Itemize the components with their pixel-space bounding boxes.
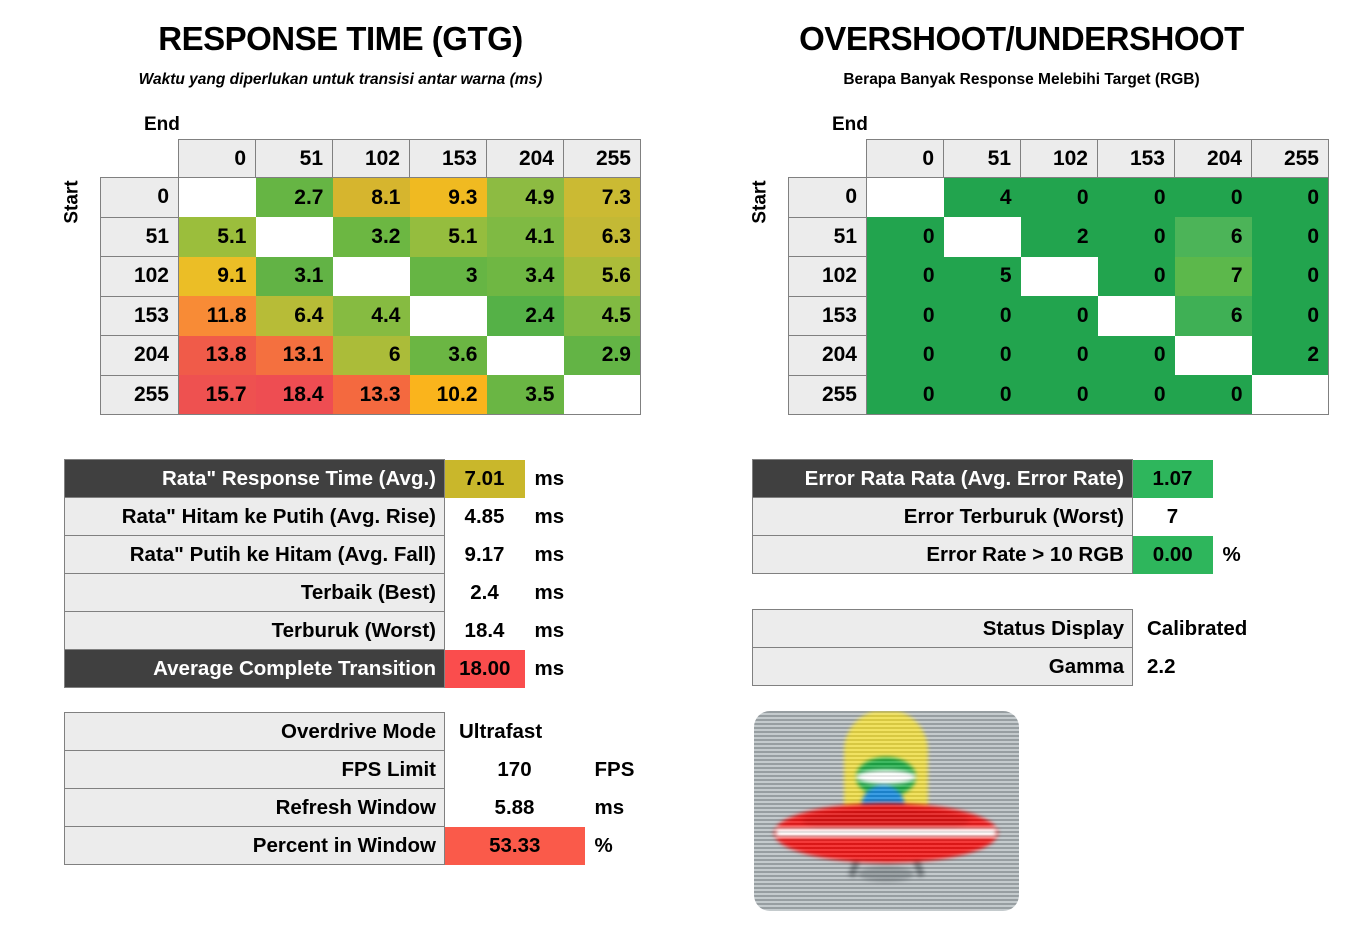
right-matrix-start-label: Start xyxy=(750,180,772,223)
response-time-stat-label: Rata" Hitam ke Putih (Avg. Rise) xyxy=(65,498,445,536)
matrix-cell: 13.8 xyxy=(179,336,256,376)
error-stat-value: 0.00 xyxy=(1133,536,1213,574)
right-panel-subtitle: Berapa Banyak Response Melebihi Target (… xyxy=(681,71,1362,89)
matrix-col-header-right: 51 xyxy=(944,140,1021,178)
matrix-cell-diagonal xyxy=(1021,257,1098,297)
matrix-cell-diagonal xyxy=(1175,336,1252,376)
response-time-stat-value: 18.00 xyxy=(445,650,525,688)
matrix-col-header-left: 51 xyxy=(256,140,333,178)
matrix-cell-diagonal xyxy=(487,336,564,376)
matrix-row: 5102060 xyxy=(789,217,1329,257)
matrix-cell: 13.1 xyxy=(256,336,333,376)
matrix-cell: 6.4 xyxy=(256,296,333,336)
display-config-unit: FPS xyxy=(585,751,645,789)
matrix-cell: 2.9 xyxy=(564,336,641,376)
right-panel-title: OVERSHOOT/UNDERSHOOT xyxy=(681,20,1362,58)
matrix-cell: 13.3 xyxy=(333,375,410,415)
response-time-stat-row: Rata" Response Time (Avg.)7.01ms xyxy=(65,460,585,498)
matrix-cell: 0 xyxy=(1252,217,1329,257)
matrix-cell: 0 xyxy=(1098,375,1175,415)
matrix-row-header-right: 255 xyxy=(789,375,867,415)
matrix-cell: 4.1 xyxy=(487,217,564,257)
matrix-cell-diagonal xyxy=(1098,296,1175,336)
matrix-cell: 0 xyxy=(1252,296,1329,336)
matrix-corner-left xyxy=(101,140,179,178)
display-status-value: Calibrated xyxy=(1133,610,1273,648)
response-time-stat-unit: ms xyxy=(525,536,585,574)
ufo-icon xyxy=(754,711,1019,911)
matrix-cell: 6 xyxy=(333,336,410,376)
matrix-cell: 5.6 xyxy=(564,257,641,297)
error-stat-unit xyxy=(1213,460,1273,498)
matrix-cell: 4.9 xyxy=(487,178,564,218)
matrix-cell: 3.5 xyxy=(487,375,564,415)
matrix-row-header-right: 153 xyxy=(789,296,867,336)
response-time-stat-label: Average Complete Transition xyxy=(65,650,445,688)
error-stat-row: Error Rata Rata (Avg. Error Rate)1.07 xyxy=(753,460,1273,498)
matrix-row: 10205070 xyxy=(789,257,1329,297)
matrix-cell: 7.3 xyxy=(564,178,641,218)
response-time-matrix: End Start 05110215320425502.78.19.34.97.… xyxy=(64,114,641,415)
matrix-row-header-left: 255 xyxy=(101,375,179,415)
response-time-stat-unit: ms xyxy=(525,574,585,612)
matrix-row: 040000 xyxy=(789,178,1329,218)
display-config-row: Overdrive ModeUltrafast xyxy=(65,713,645,751)
response-time-stat-unit: ms xyxy=(525,498,585,536)
matrix-row-header-left: 0 xyxy=(101,178,179,218)
response-time-stat-row: Average Complete Transition18.00ms xyxy=(65,650,585,688)
matrix-cell: 6 xyxy=(1175,217,1252,257)
response-time-stats-table: Rata" Response Time (Avg.)7.01msRata" Hi… xyxy=(64,459,585,688)
matrix-col-header-left: 102 xyxy=(333,140,410,178)
matrix-row-header-right: 51 xyxy=(789,217,867,257)
right-matrix-end-label: End xyxy=(832,114,1329,136)
matrix-row: 1029.13.133.45.6 xyxy=(101,257,641,297)
matrix-row: 515.13.25.14.16.3 xyxy=(101,217,641,257)
matrix-cell: 5 xyxy=(944,257,1021,297)
display-status-unit xyxy=(1273,648,1333,686)
display-status-row: Status DisplayCalibrated xyxy=(753,610,1333,648)
error-stat-label: Error Rata Rata (Avg. Error Rate) xyxy=(753,460,1133,498)
display-status-unit xyxy=(1273,610,1333,648)
left-matrix-start-label: Start xyxy=(62,180,84,223)
matrix-cell: 8.1 xyxy=(333,178,410,218)
matrix-cell: 0 xyxy=(1252,257,1329,297)
matrix-row: 15300060 xyxy=(789,296,1329,336)
response-time-stat-value: 9.17 xyxy=(445,536,525,574)
display-status-table: Status DisplayCalibratedGamma2.2 xyxy=(752,609,1333,686)
error-stat-label: Error Rate > 10 RGB xyxy=(753,536,1133,574)
matrix-cell: 3 xyxy=(410,257,487,297)
display-config-row: Refresh Window5.88ms xyxy=(65,789,645,827)
response-time-stat-value: 7.01 xyxy=(445,460,525,498)
left-panel-title: RESPONSE TIME (GTG) xyxy=(0,20,681,58)
display-config-label: Refresh Window xyxy=(65,789,445,827)
left-panel-subtitle: Waktu yang diperlukan untuk transisi ant… xyxy=(0,71,681,89)
matrix-cell: 0 xyxy=(1021,336,1098,376)
matrix-cell: 0 xyxy=(1252,178,1329,218)
left-matrix-end-label: End xyxy=(144,114,641,136)
matrix-cell: 2 xyxy=(1021,217,1098,257)
matrix-row-header-right: 102 xyxy=(789,257,867,297)
matrix-cell: 0 xyxy=(1098,178,1175,218)
overshoot-matrix: End Start 051102153204255040000510206010… xyxy=(752,114,1329,415)
matrix-cell: 0 xyxy=(867,336,944,376)
matrix-row-header-right: 0 xyxy=(789,178,867,218)
response-time-stat-value: 18.4 xyxy=(445,612,525,650)
response-time-stat-row: Terbaik (Best)2.4ms xyxy=(65,574,585,612)
matrix-row-header-left: 51 xyxy=(101,217,179,257)
matrix-row-header-left: 102 xyxy=(101,257,179,297)
matrix-cell: 3.4 xyxy=(487,257,564,297)
matrix-cell: 3.6 xyxy=(410,336,487,376)
display-status-label: Gamma xyxy=(753,648,1133,686)
ufo-illustration xyxy=(754,711,1019,911)
display-config-unit xyxy=(585,713,645,751)
response-time-stat-row: Terburuk (Worst)18.4ms xyxy=(65,612,585,650)
ufo-test-image xyxy=(754,711,1019,911)
matrix-cell: 18.4 xyxy=(256,375,333,415)
matrix-cell: 0 xyxy=(1175,178,1252,218)
matrix-row-header-left: 204 xyxy=(101,336,179,376)
matrix-cell: 5.1 xyxy=(179,217,256,257)
matrix-col-header-left: 204 xyxy=(487,140,564,178)
error-stat-row: Error Rate > 10 RGB0.00% xyxy=(753,536,1273,574)
display-config-label: FPS Limit xyxy=(65,751,445,789)
matrix-row-header-right: 204 xyxy=(789,336,867,376)
matrix-cell: 3.1 xyxy=(256,257,333,297)
matrix-cell: 0 xyxy=(1021,296,1098,336)
matrix-cell: 2 xyxy=(1252,336,1329,376)
left-heatmap-table: 05110215320425502.78.19.34.97.3515.13.25… xyxy=(100,139,641,415)
matrix-cell: 0 xyxy=(867,257,944,297)
matrix-col-header-right: 153 xyxy=(1098,140,1175,178)
matrix-cell: 0 xyxy=(1098,336,1175,376)
matrix-cell: 4 xyxy=(944,178,1021,218)
display-config-row: FPS Limit170FPS xyxy=(65,751,645,789)
matrix-cell: 0 xyxy=(1021,178,1098,218)
right-matrix-start-axis: Start xyxy=(752,139,788,415)
response-time-stat-label: Terbaik (Best) xyxy=(65,574,445,612)
matrix-cell: 10.2 xyxy=(410,375,487,415)
display-status-value: 2.2 xyxy=(1133,648,1273,686)
matrix-cell: 0 xyxy=(944,336,1021,376)
matrix-cell: 11.8 xyxy=(179,296,256,336)
display-config-unit: ms xyxy=(585,789,645,827)
response-time-stat-row: Rata" Hitam ke Putih (Avg. Rise)4.85ms xyxy=(65,498,585,536)
response-time-stat-value: 4.85 xyxy=(445,498,525,536)
display-status-label: Status Display xyxy=(753,610,1133,648)
response-time-stat-row: Rata" Putih ke Hitam (Avg. Fall)9.17ms xyxy=(65,536,585,574)
error-stat-unit xyxy=(1213,498,1273,536)
matrix-cell: 0 xyxy=(1098,257,1175,297)
display-config-label: Overdrive Mode xyxy=(65,713,445,751)
matrix-row: 25500000 xyxy=(789,375,1329,415)
matrix-row: 20400002 xyxy=(789,336,1329,376)
display-config-value: 170 xyxy=(445,751,585,789)
matrix-cell: 6.3 xyxy=(564,217,641,257)
error-stat-unit: % xyxy=(1213,536,1273,574)
matrix-cell-diagonal xyxy=(256,217,333,257)
matrix-cell: 5.1 xyxy=(410,217,487,257)
matrix-col-header-right: 102 xyxy=(1021,140,1098,178)
display-status-row: Gamma2.2 xyxy=(753,648,1333,686)
matrix-col-header-right: 0 xyxy=(867,140,944,178)
response-time-stat-label: Rata" Putih ke Hitam (Avg. Fall) xyxy=(65,536,445,574)
matrix-cell: 0 xyxy=(1021,375,1098,415)
matrix-col-header-left: 0 xyxy=(179,140,256,178)
matrix-cell-diagonal xyxy=(564,375,641,415)
display-config-label: Percent in Window xyxy=(65,827,445,865)
matrix-col-header-right: 255 xyxy=(1252,140,1329,178)
response-time-stat-unit: ms xyxy=(525,650,585,688)
matrix-cell: 0 xyxy=(867,375,944,415)
error-stat-row: Error Terburuk (Worst)7 xyxy=(753,498,1273,536)
matrix-row: 02.78.19.34.97.3 xyxy=(101,178,641,218)
matrix-cell-diagonal xyxy=(333,257,410,297)
error-stat-value: 7 xyxy=(1133,498,1213,536)
matrix-cell: 7 xyxy=(1175,257,1252,297)
error-stat-label: Error Terburuk (Worst) xyxy=(753,498,1133,536)
display-config-row: Percent in Window53.33% xyxy=(65,827,645,865)
response-time-panel: RESPONSE TIME (GTG) Waktu yang diperluka… xyxy=(0,0,681,931)
error-stats-table: Error Rata Rata (Avg. Error Rate)1.07Err… xyxy=(752,459,1273,574)
matrix-corner-right xyxy=(789,140,867,178)
matrix-col-header-right: 204 xyxy=(1175,140,1252,178)
response-time-stat-label: Terburuk (Worst) xyxy=(65,612,445,650)
display-config-value: Ultrafast xyxy=(445,713,585,751)
matrix-cell: 15.7 xyxy=(179,375,256,415)
matrix-col-header-left: 255 xyxy=(564,140,641,178)
matrix-cell-diagonal xyxy=(1252,375,1329,415)
matrix-cell-diagonal xyxy=(944,217,1021,257)
display-config-value: 5.88 xyxy=(445,789,585,827)
matrix-cell: 6 xyxy=(1175,296,1252,336)
matrix-cell: 9.3 xyxy=(410,178,487,218)
matrix-cell-diagonal xyxy=(410,296,487,336)
display-config-unit: % xyxy=(585,827,645,865)
display-config-table: Overdrive ModeUltrafastFPS Limit170FPSRe… xyxy=(64,712,645,865)
matrix-cell: 4.4 xyxy=(333,296,410,336)
matrix-cell: 2.7 xyxy=(256,178,333,218)
matrix-cell: 4.5 xyxy=(564,296,641,336)
matrix-cell: 0 xyxy=(944,375,1021,415)
display-config-value: 53.33 xyxy=(445,827,585,865)
matrix-cell: 0 xyxy=(867,217,944,257)
error-stat-value: 1.07 xyxy=(1133,460,1213,498)
matrix-row-header-left: 153 xyxy=(101,296,179,336)
matrix-row: 25515.718.413.310.23.5 xyxy=(101,375,641,415)
response-time-stat-label: Rata" Response Time (Avg.) xyxy=(65,460,445,498)
left-matrix-start-axis: Start xyxy=(64,139,100,415)
matrix-cell: 0 xyxy=(867,296,944,336)
matrix-col-header-left: 153 xyxy=(410,140,487,178)
matrix-cell: 2.4 xyxy=(487,296,564,336)
matrix-cell: 9.1 xyxy=(179,257,256,297)
matrix-cell: 0 xyxy=(1098,217,1175,257)
matrix-cell-diagonal xyxy=(179,178,256,218)
matrix-row: 15311.86.44.42.44.5 xyxy=(101,296,641,336)
response-time-stat-unit: ms xyxy=(525,612,585,650)
response-time-stat-unit: ms xyxy=(525,460,585,498)
response-time-stat-value: 2.4 xyxy=(445,574,525,612)
matrix-cell: 0 xyxy=(944,296,1021,336)
matrix-cell: 0 xyxy=(1175,375,1252,415)
right-heatmap-table: 0511021532042550400005102060102050701530… xyxy=(788,139,1329,415)
matrix-row: 20413.813.163.62.9 xyxy=(101,336,641,376)
matrix-cell: 3.2 xyxy=(333,217,410,257)
matrix-cell-diagonal xyxy=(867,178,944,218)
monitor-response-time-report: RESPONSE TIME (GTG) Waktu yang diperluka… xyxy=(0,0,1362,931)
